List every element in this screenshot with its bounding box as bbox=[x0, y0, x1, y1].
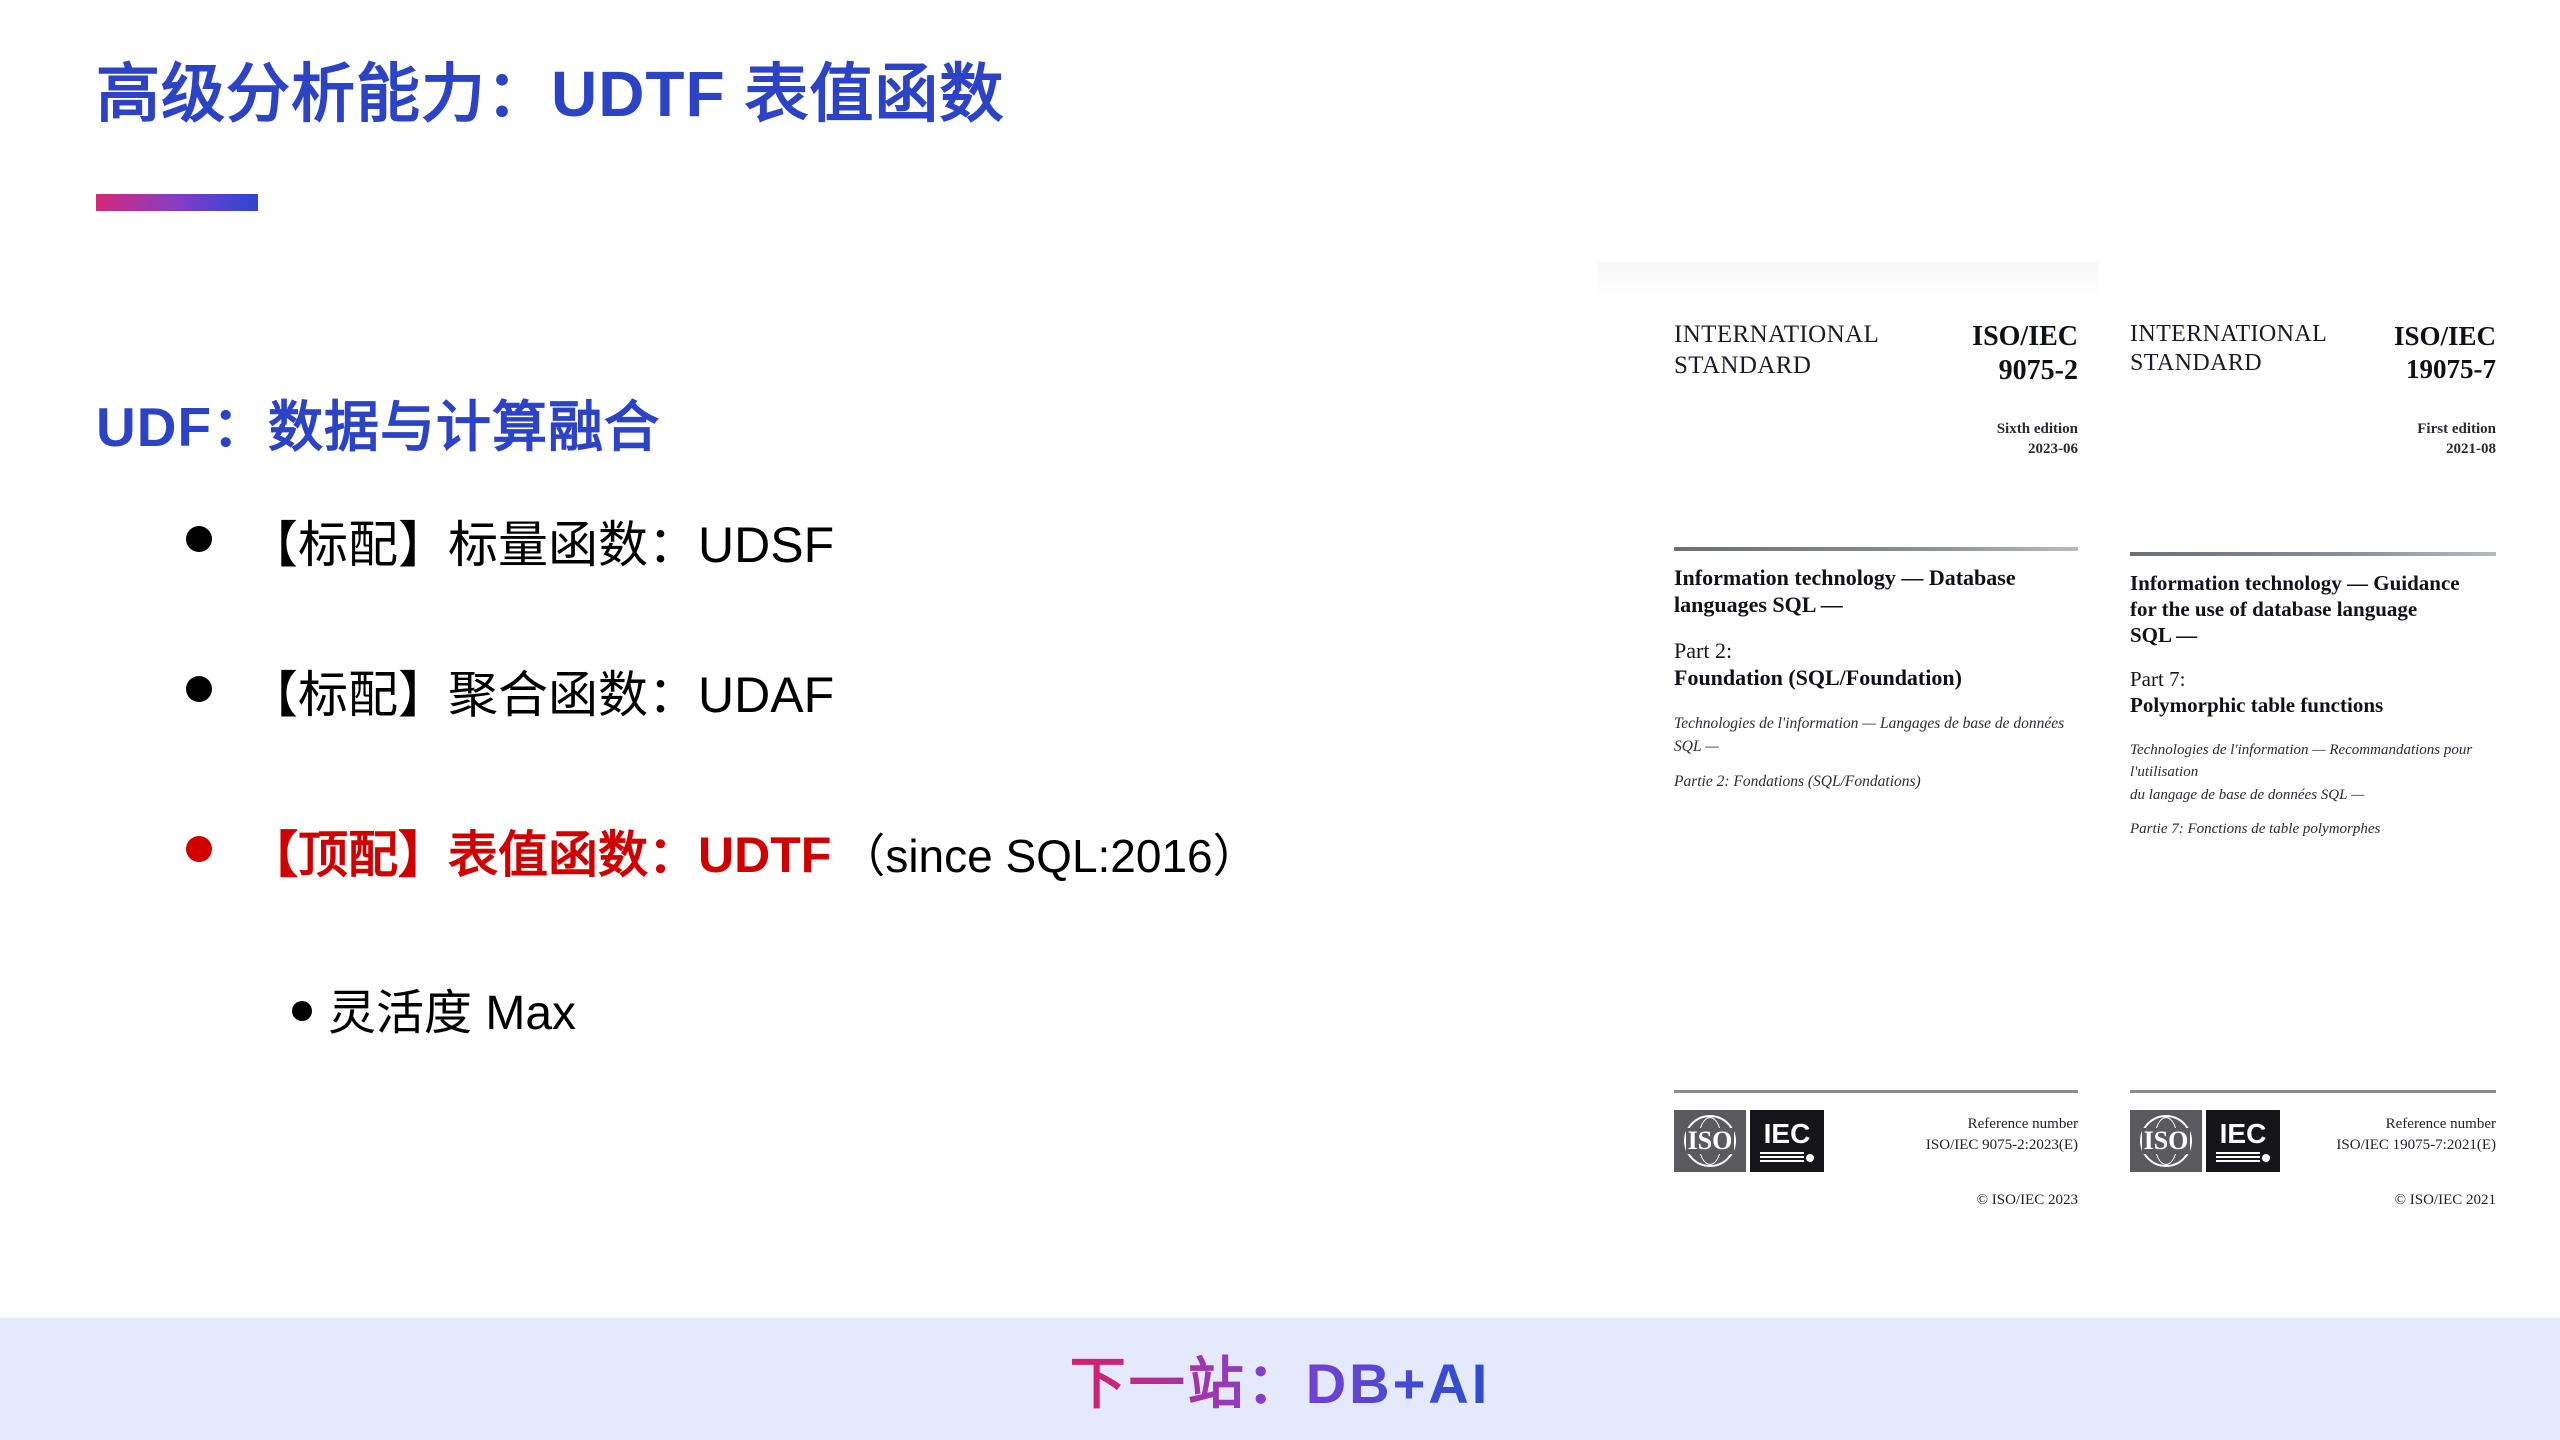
iso-standards-image: INTERNATIONAL STANDARD ISO/IEC 9075-2 Si… bbox=[1598, 262, 2518, 1242]
doc-title: Information technology — Database langua… bbox=[1674, 564, 2080, 619]
iso-iec-logo: ISO IEC bbox=[1674, 1110, 1824, 1172]
iso-logo-text: ISO bbox=[2142, 1128, 2191, 1154]
iec-logo-icon: IEC bbox=[1750, 1110, 1824, 1172]
doc-copyright: © ISO/IEC 2023 bbox=[1977, 1192, 2078, 1209]
doc-copyright: © ISO/IEC 2021 bbox=[2395, 1192, 2496, 1209]
page-title: 高级分析能力：UDTF 表值函数 bbox=[96, 58, 1004, 132]
bullet-dot-icon bbox=[186, 676, 212, 702]
doc-reference-number: Reference number ISO/IEC 9075-2:2023(E) bbox=[1926, 1114, 2078, 1156]
doc-divider bbox=[1674, 547, 2078, 551]
bullet-dot-icon bbox=[186, 526, 212, 552]
doc-part: Part 7: bbox=[2130, 666, 2500, 692]
doc-edition: Sixth edition 2023-06 bbox=[1997, 420, 2078, 459]
doc-body: Information technology — Guidance for th… bbox=[2130, 570, 2500, 853]
slide-root: 高级分析能力：UDTF 表值函数 UDF：数据与计算融合 【标配】标量函数：UD… bbox=[0, 0, 2560, 1440]
section-subheading: UDF：数据与计算融合 bbox=[96, 382, 660, 462]
iso-iec-logo: ISO IEC bbox=[2130, 1110, 2280, 1172]
doc-standard-label: INTERNATIONAL STANDARD bbox=[1674, 320, 1879, 381]
doc-footer-rule bbox=[1674, 1090, 2078, 1093]
iec-logo-icon: IEC bbox=[2206, 1110, 2280, 1172]
doc-edition: First edition 2021-08 bbox=[2417, 420, 2496, 459]
title-accent-rule bbox=[96, 194, 258, 211]
doc-body: Information technology — Database langua… bbox=[1674, 564, 2080, 805]
bullet-dot-icon bbox=[186, 836, 212, 862]
doc-part-title: Foundation (SQL/Foundation) bbox=[1674, 664, 2080, 692]
iso-logo-text: ISO bbox=[1686, 1128, 1735, 1154]
doc-standard-number: ISO/IEC 19075-7 bbox=[2394, 320, 2496, 386]
iso-logo-icon: ISO bbox=[2130, 1110, 2202, 1172]
iso-document-cover-19075-7: INTERNATIONAL STANDARD ISO/IEC 19075-7 F… bbox=[2098, 262, 2518, 1242]
doc-header: INTERNATIONAL STANDARD ISO/IEC 9075-2 bbox=[1674, 320, 2078, 388]
doc-reference-number: Reference number ISO/IEC 19075-7:2021(E) bbox=[2336, 1114, 2496, 1156]
list-item-highlighted: 【顶配】表值函数：UDTF （since SQL:2016） bbox=[186, 820, 1566, 970]
list-item: 【标配】标量函数：UDSF bbox=[186, 520, 1566, 670]
bullet-label: 【标配】标量函数：UDSF bbox=[248, 520, 834, 570]
doc-divider bbox=[2130, 552, 2496, 556]
list-item: 灵活度 Max bbox=[292, 990, 576, 1038]
iso-logo-icon: ISO bbox=[1674, 1110, 1746, 1172]
doc-title: Information technology — Guidance for th… bbox=[2130, 570, 2500, 648]
doc-part: Part 2: bbox=[1674, 637, 2080, 665]
doc-standard-label: INTERNATIONAL STANDARD bbox=[2130, 320, 2327, 379]
doc-french-title: Technologies de l'information — Recomman… bbox=[2130, 739, 2500, 807]
doc-header: INTERNATIONAL STANDARD ISO/IEC 19075-7 bbox=[2130, 320, 2496, 386]
bullet-label: 【标配】聚合函数：UDAF bbox=[248, 670, 834, 720]
list-item: 【标配】聚合函数：UDAF bbox=[186, 670, 1566, 820]
bullet-label: 【顶配】表值函数：UDTF bbox=[248, 830, 831, 880]
sub-bullet-label: 灵活度 Max bbox=[328, 990, 576, 1038]
bullet-list: 【标配】标量函数：UDSF 【标配】聚合函数：UDAF 【顶配】表值函数：UDT… bbox=[186, 520, 1566, 970]
doc-french-part: Partie 7: Fonctions de table polymorphes bbox=[2130, 818, 2500, 841]
bullet-dot-icon bbox=[292, 1001, 312, 1021]
bullet-suffix: （since SQL:2016） bbox=[839, 820, 1258, 886]
sub-bullet-list: 灵活度 Max bbox=[292, 990, 576, 1038]
doc-part-title: Polymorphic table functions bbox=[2130, 692, 2500, 718]
footer-tagline: 下一站：DB+AI bbox=[1070, 1339, 1491, 1420]
doc-standard-number: ISO/IEC 9075-2 bbox=[1972, 320, 2078, 388]
iso-document-cover-9075-2: INTERNATIONAL STANDARD ISO/IEC 9075-2 Si… bbox=[1598, 262, 2098, 1242]
iec-logo-text: IEC bbox=[2220, 1120, 2267, 1148]
iec-logo-text: IEC bbox=[1764, 1120, 1811, 1148]
doc-footer-rule bbox=[2130, 1090, 2496, 1093]
doc-french-part: Partie 2: Fondations (SQL/Fondations) bbox=[1674, 770, 2080, 793]
footer-banner: 下一站：DB+AI bbox=[0, 1318, 2560, 1440]
doc-french-title: Technologies de l'information — Langages… bbox=[1674, 712, 2080, 759]
